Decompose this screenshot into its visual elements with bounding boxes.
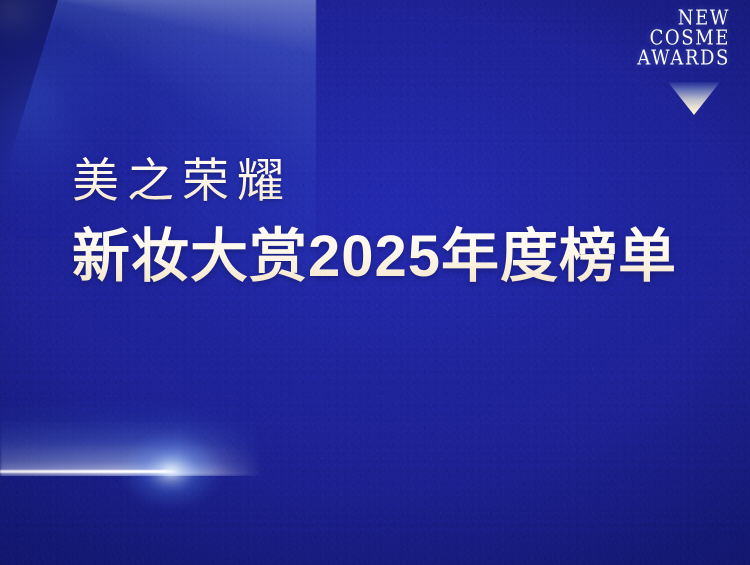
logo-line-awards: AWARDS xyxy=(560,47,730,70)
headline-title: 新妆大赏2025年度榜单 xyxy=(72,222,677,292)
headline-subtitle: 美之荣耀 xyxy=(72,150,677,212)
brand-logo: NEW COSME AWARDS xyxy=(560,10,730,70)
poster-canvas: NEW COSME AWARDS 美之荣耀 新妆大赏2025年度榜单 xyxy=(0,0,750,565)
headline-block: 美之荣耀 新妆大赏2025年度榜单 xyxy=(72,150,677,292)
